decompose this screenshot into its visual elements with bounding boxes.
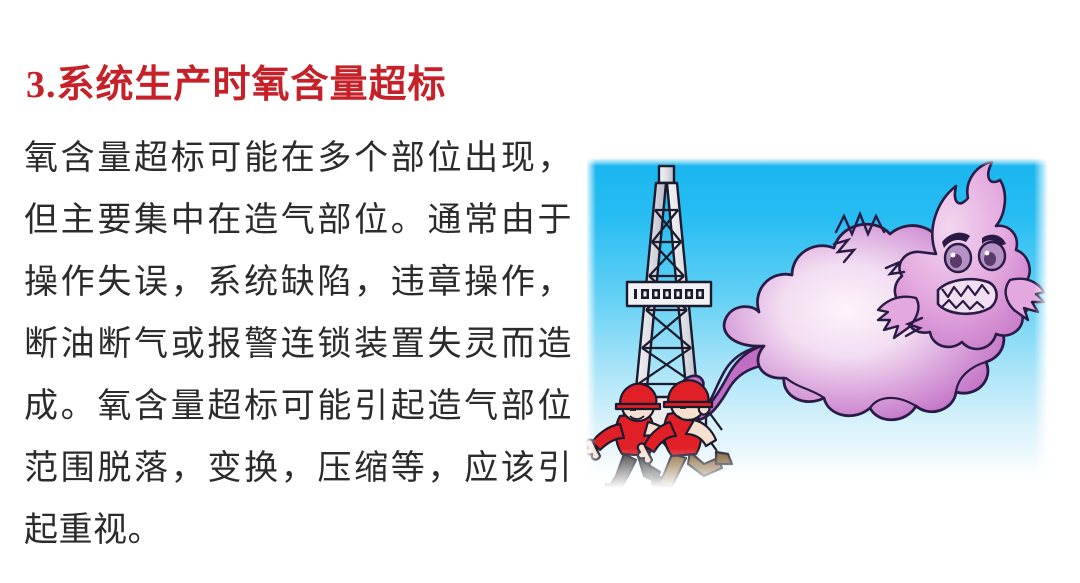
body-paragraph-text: 氧含量超标可能在多个部位出现，但主要集中在造气部位。通常由于操作失误，系统缺陷，… [24, 128, 572, 562]
cartoon-scene [586, 158, 1048, 488]
page-title: 3.系统生产时氧含量超标 [26, 62, 447, 108]
illustration-panel [586, 158, 1048, 488]
derrick-sign [627, 282, 711, 306]
monster-mouth [938, 279, 997, 314]
body-paragraph: 氧含量超标可能在多个部位出现，但主要集中在造气部位。通常由于操作失误，系统缺陷，… [24, 128, 572, 562]
text-column: 3.系统生产时氧含量超标 氧含量超标可能在多个部位出现，但主要集中在造气部位。通… [0, 0, 580, 583]
page-root: 3.系统生产时氧含量超标 氧含量超标可能在多个部位出现，但主要集中在造气部位。通… [0, 0, 1080, 583]
